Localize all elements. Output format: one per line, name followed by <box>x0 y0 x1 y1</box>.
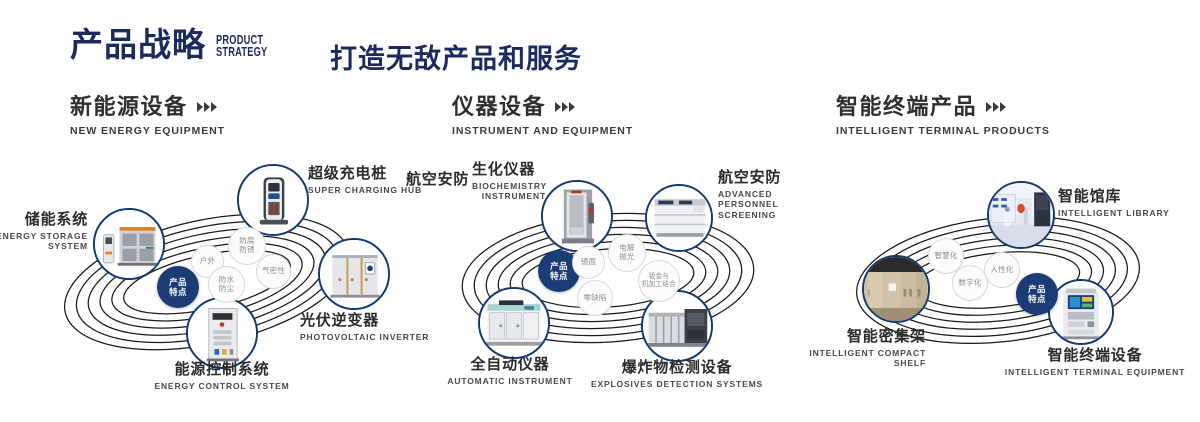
node-label-aviation-security-aux: 航空安防 <box>406 172 469 189</box>
node-label-en: BIOCHEMISTRY INSTRUMENT <box>472 181 546 202</box>
section-title-en: INTELLIGENT TERMINAL PRODUCTS <box>836 125 1050 137</box>
section-title-cn: 新能源设备 <box>70 96 188 118</box>
node-label-intelligent-library: 智能馆库 INTELLIGENT LIBRARY <box>1058 189 1170 218</box>
node-label-cn: 航空安防 <box>718 170 810 187</box>
feature-bubble-airtightness: 气密性 <box>256 254 291 289</box>
feature-bubble-humanized: 人性化 <box>984 252 1020 288</box>
feature-bubble-line2: 防尘 <box>219 284 234 293</box>
node-label-cn: 智能密集架 <box>720 329 926 346</box>
feature-bubble-text: 智慧化 <box>934 252 957 261</box>
node-label-cn: 储能系统 <box>0 212 88 229</box>
node-label-en: ENERGY CONTROL SYSTEM <box>86 381 358 392</box>
node-intelligent-library[interactable] <box>987 181 1055 249</box>
feature-core-line1: 产品 <box>1028 284 1046 294</box>
node-intelligent-terminal-equipment[interactable] <box>1048 279 1114 345</box>
chevron-triple-right-icon <box>986 102 1006 112</box>
feature-bubble-sheetmetal-machining: 钣金与 机加工结合 <box>638 260 680 302</box>
feature-bubble-line2: 抛光 <box>619 252 634 261</box>
feature-bubble-line1: 防水 <box>219 275 234 284</box>
feature-bubble-waterproof-dustproof: 防水 防尘 <box>208 266 245 303</box>
feature-bubble-line1: 电解 <box>619 243 634 252</box>
section-title-cn: 智能终端产品 <box>836 96 977 118</box>
feature-core-line1: 产品 <box>169 277 187 287</box>
section-title-cn: 仪器设备 <box>452 96 546 118</box>
feature-bubble-line2: 防锈 <box>239 245 254 254</box>
feature-bubble-line1: 防腐 <box>239 236 254 245</box>
node-label-cn: 智能终端设备 <box>990 348 1200 365</box>
page-title-english-line2: STRATEGY <box>216 46 267 59</box>
node-intelligent-compact-shelf[interactable] <box>862 255 930 323</box>
feature-core-line2: 特点 <box>1028 294 1046 304</box>
feature-core-line1: 产品 <box>550 261 568 271</box>
node-label-en: INTELLIGENT TERMINAL EQUIPMENT <box>990 367 1200 378</box>
node-label-cn: 智能馆库 <box>1058 189 1170 206</box>
node-label-cn: 生化仪器 <box>472 162 546 179</box>
feature-bubble-line1: 钣金与 <box>649 273 669 280</box>
cluster-new-energy: 超级充电桩 SUPER CHARGING HUB 储能系统 ENER <box>0 150 420 400</box>
personnel-screening-machine-photo <box>647 186 711 250</box>
node-energy-storage-system[interactable] <box>93 208 165 280</box>
product-strategy-infographic: 产品战略 PRODUCT STRATEGY 打造无敌产品和服务 新能源设备 NE… <box>0 0 1200 422</box>
section-title-intelligent-terminal: 智能终端产品 INTELLIGENT TERMINAL PRODUCTS <box>836 96 1050 137</box>
feature-bubble-text: 镜面 <box>581 258 596 267</box>
feature-bubble-text: 零缺陷 <box>583 294 606 303</box>
node-label-energy-storage-system: 储能系统 ENERGY STORAGE SYSTEM <box>0 212 88 252</box>
smart-library-interior-photo <box>989 183 1053 247</box>
feature-core-intelligent-terminal: 产品 特点 <box>1016 273 1058 315</box>
section-title-instrument: 仪器设备 INSTRUMENT AND EQUIPMENT <box>452 96 633 137</box>
feature-bubble-text: 人性化 <box>990 266 1013 275</box>
node-biochemistry-instrument[interactable] <box>541 180 613 252</box>
chevron-triple-right-icon <box>555 102 575 112</box>
section-title-new-energy: 新能源设备 NEW ENERGY EQUIPMENT <box>70 96 225 137</box>
node-label-biochemistry-instrument: 生化仪器 BIOCHEMISTRY INSTRUMENT <box>472 162 546 202</box>
feature-bubble-digital: 数字化 <box>952 265 988 301</box>
node-automatic-instrument[interactable] <box>478 287 550 359</box>
ev-charging-pile-photo <box>239 166 307 234</box>
self-service-kiosk-photo <box>1050 281 1112 343</box>
node-label-en: INTELLIGENT COMPACT SHELF <box>798 348 926 369</box>
energy-control-cabinet-photo <box>188 299 256 367</box>
node-label-advanced-personnel-screening: 航空安防 ADVANCED PERSONNEL SCREENING <box>718 170 810 221</box>
feature-bubble-line2: 机加工结合 <box>642 281 676 288</box>
node-photovoltaic-inverter[interactable] <box>318 238 390 310</box>
node-label-en: EXPLOSIVES DETECTION SYSTEMS <box>567 379 787 390</box>
node-energy-control-system[interactable] <box>186 297 258 369</box>
section-title-en: NEW ENERGY EQUIPMENT <box>70 125 225 137</box>
node-label-en: ENERGY STORAGE SYSTEM <box>0 231 88 252</box>
node-label-intelligent-terminal-equipment: 智能终端设备 INTELLIGENT TERMINAL EQUIPMENT <box>990 348 1200 377</box>
chevron-triple-right-icon <box>197 102 217 112</box>
feature-core-line2: 特点 <box>169 287 187 297</box>
node-label-intelligent-compact-shelf: 智能密集架 INTELLIGENT COMPACT SHELF <box>720 329 926 369</box>
page-slogan: 打造无敌产品和服务 <box>330 37 582 76</box>
feature-bubble-text: 气密性 <box>262 267 285 276</box>
page-title-english-line1: PRODUCT <box>216 34 267 47</box>
automatic-analyzer-photo <box>480 289 548 357</box>
pv-inverter-cabinet-photo <box>320 240 388 308</box>
node-label-cn: 能源控制系统 <box>86 362 358 379</box>
feature-bubble-electropolishing: 电解 抛光 <box>608 234 646 272</box>
feature-bubble-text: 数字化 <box>958 279 981 288</box>
page-title: 产品战略 <box>70 28 206 61</box>
biochemistry-scanner-photo <box>543 182 611 250</box>
node-super-charging-hub[interactable] <box>237 164 309 236</box>
feature-core-line2: 特点 <box>550 271 568 281</box>
node-advanced-personnel-screening[interactable] <box>645 184 713 252</box>
cluster-intelligent-terminal: 智能馆库 INTELLIGENT LIBRARY 智能密集架 INT <box>800 150 1200 400</box>
node-label-en: ADVANCED PERSONNEL SCREENING <box>718 189 810 221</box>
feature-bubble-mirror-finish: 镜面 <box>572 246 605 279</box>
section-title-en: INSTRUMENT AND EQUIPMENT <box>452 125 633 137</box>
compact-shelving-photo <box>864 257 928 321</box>
page-title-english: PRODUCT STRATEGY <box>216 34 267 60</box>
node-label-energy-control-system: 能源控制系统 ENERGY CONTROL SYSTEM <box>86 362 358 391</box>
feature-bubble-zero-defect: 零缺陷 <box>577 280 613 316</box>
node-label-cn: 航空安防 <box>406 172 469 189</box>
energy-storage-cabinet-photo <box>95 210 163 278</box>
feature-bubble-text: 户外 <box>200 257 215 266</box>
page-header: 产品战略 PRODUCT STRATEGY <box>70 28 286 61</box>
explosives-detector-photo <box>643 292 711 360</box>
node-label-en: INTELLIGENT LIBRARY <box>1058 208 1170 219</box>
feature-core-new-energy: 产品 特点 <box>157 266 199 308</box>
